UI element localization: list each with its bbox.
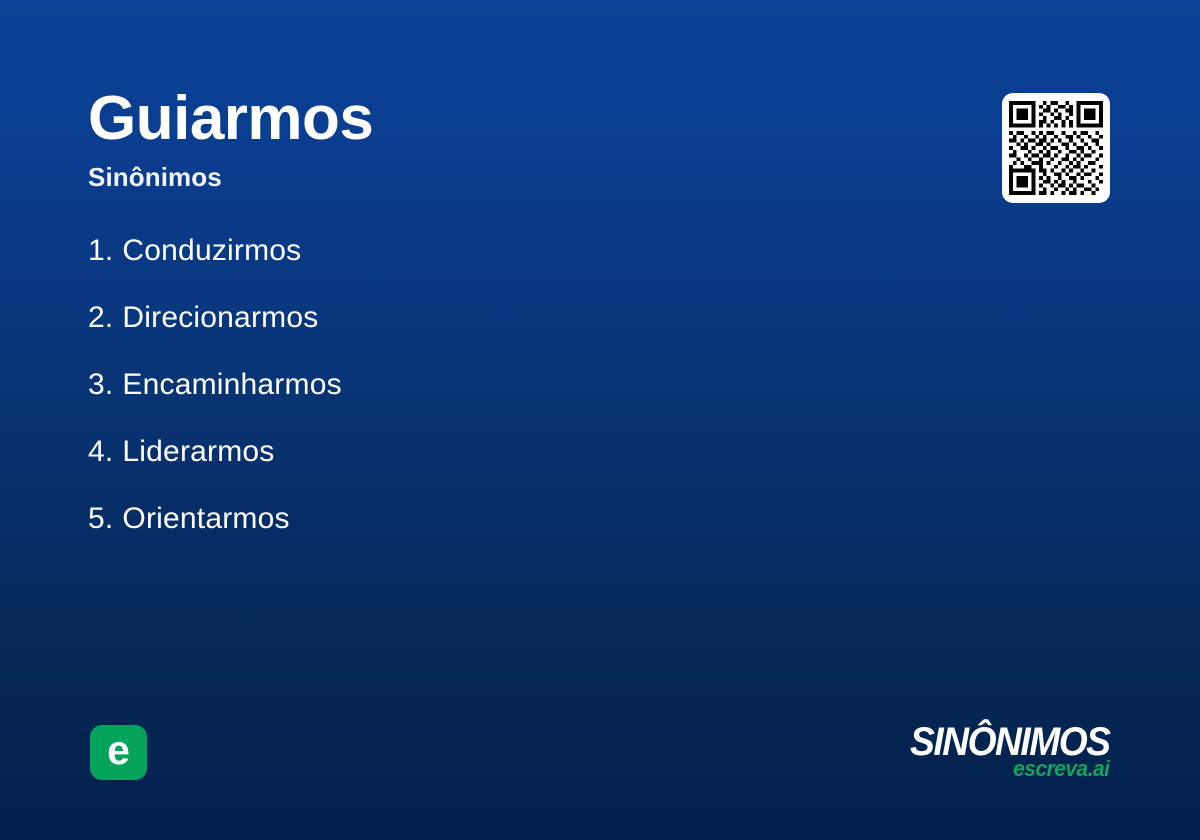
footer-logo-subtitle: escreva.ai [906, 758, 1110, 780]
list-item-label: Conduzirmos [122, 234, 301, 268]
brand-badge-letter: e [107, 730, 130, 771]
list-item-index: 5. [88, 502, 113, 536]
list-item-label: Encaminharmos [122, 368, 341, 402]
list-item: 4.Liderarmos [88, 435, 342, 502]
footer-logo[interactable]: SINÔNIMOS escreva.ai [895, 723, 1110, 780]
page-subtitle: Sinônimos [88, 162, 373, 193]
qr-code-card[interactable] [1002, 93, 1110, 203]
list-item: 2.Direcionarmos [88, 301, 342, 368]
list-item-label: Orientarmos [122, 502, 289, 536]
qr-code-icon [1009, 100, 1103, 196]
escreva-logo-icon[interactable]: e [90, 725, 147, 780]
list-item-index: 2. [88, 301, 113, 335]
title-block: Guiarmos Sinônimos [88, 86, 373, 193]
list-item-index: 1. [88, 234, 113, 268]
synonym-card: Guiarmos Sinônimos 1.Conduzirmos2.Direci… [0, 0, 1200, 840]
synonym-list: 1.Conduzirmos2.Direcionarmos3.Encaminhar… [88, 234, 342, 569]
page-title: Guiarmos [88, 86, 373, 152]
list-item: 3.Encaminharmos [88, 368, 342, 435]
list-item: 5.Orientarmos [88, 502, 342, 569]
list-item: 1.Conduzirmos [88, 234, 342, 301]
list-item-index: 4. [88, 435, 113, 469]
list-item-label: Direcionarmos [122, 301, 318, 335]
list-item-index: 3. [88, 368, 113, 402]
list-item-label: Liderarmos [122, 435, 274, 469]
